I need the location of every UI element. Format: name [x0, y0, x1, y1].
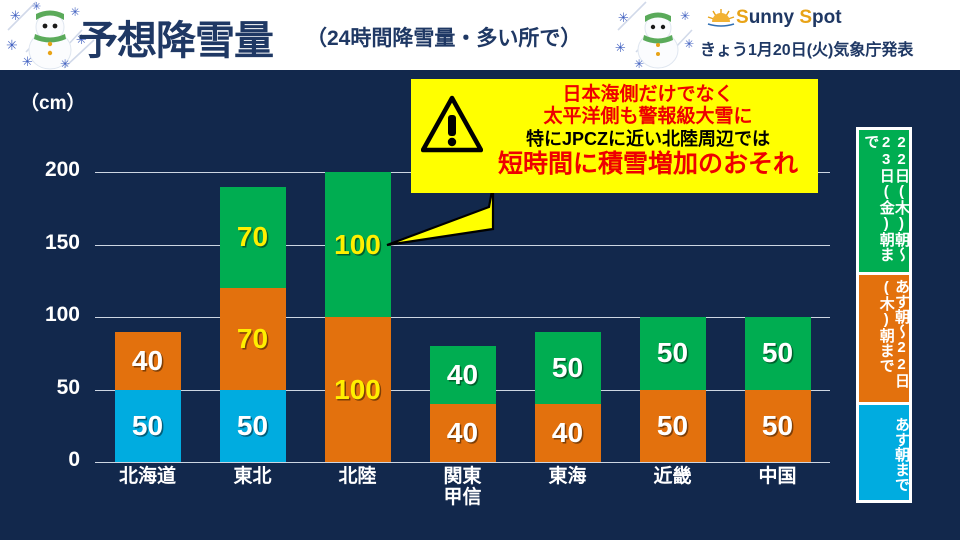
bar-value-label: 50 [132, 412, 163, 440]
bar-東北[interactable]: 507070 [220, 187, 286, 463]
brand-s1: S [736, 7, 749, 28]
bar-segment-orange: 70 [220, 288, 286, 390]
x-label-line: 中国 [723, 466, 833, 487]
legend-blue[interactable]: あす朝まで [859, 402, 909, 500]
bar-北海道[interactable]: 5040 [115, 332, 181, 463]
y-axis-tick-label: 200 [8, 158, 80, 182]
callout-line-3: 特にJPCZに近い北陸周辺では [483, 129, 813, 150]
svg-text:✳: ✳ [684, 37, 694, 51]
bar-中国[interactable]: 5050 [745, 317, 811, 462]
bar-value-label: 50 [237, 412, 268, 440]
svg-text:✳: ✳ [634, 57, 644, 70]
x-axis-label-北陸: 北陸 [303, 466, 413, 487]
warning-callout: 日本海側だけでなく 太平洋側も警報級大雪に 特にJPCZに近い北陸周辺では 短時… [411, 79, 818, 193]
bar-関東甲信[interactable]: 4040 [430, 346, 496, 462]
bar-value-label: 100 [334, 231, 381, 259]
x-axis-label-関東甲信: 関東甲信 [408, 466, 518, 509]
svg-text:✳: ✳ [615, 40, 626, 55]
bar-北陸[interactable]: 100100 [325, 172, 391, 462]
page-header: ✳✳ ✳✳ ✳✳ ✳ ✳✳ ✳✳ ✳ 予想降雪量 （2 [0, 0, 960, 70]
callout-tail [385, 185, 495, 247]
page-title: 予想降雪量 [78, 8, 273, 66]
x-label-line: 関東 [408, 466, 518, 487]
bar-segment-green: 50 [640, 317, 706, 390]
x-axis-label-東海: 東海 [513, 466, 623, 487]
publish-date: きょう1月20日(火)気象庁発表 [700, 36, 913, 60]
bar-value-label: 50 [657, 412, 688, 440]
x-label-line: 東北 [198, 466, 308, 487]
svg-text:✳: ✳ [6, 37, 18, 53]
bar-東海[interactable]: 4050 [535, 332, 601, 463]
callout-line-4: 短時間に積雪増加のおそれ [483, 150, 813, 180]
bar-segment-green: 70 [220, 187, 286, 289]
bar-value-label: 100 [334, 376, 381, 404]
x-label-line: 北陸 [303, 466, 413, 487]
bar-segment-orange: 100 [325, 317, 391, 462]
x-axis-label-東北: 東北 [198, 466, 308, 487]
x-label-line: 北海道 [93, 466, 203, 487]
callout-line-1: 日本海側だけでなく [483, 84, 813, 106]
bar-segment-green: 100 [325, 172, 391, 317]
legend-orange[interactable]: あす朝～22日(木)朝まで [859, 272, 909, 402]
svg-text:✳: ✳ [22, 54, 33, 69]
bar-近畿[interactable]: 5050 [640, 317, 706, 462]
x-axis-label-近畿: 近畿 [618, 466, 728, 487]
svg-text:✳: ✳ [680, 9, 690, 23]
bar-value-label: 40 [447, 361, 478, 389]
y-axis-tick-label: 50 [8, 376, 80, 400]
y-axis-tick-label: 0 [8, 448, 80, 472]
x-label-line: 近畿 [618, 466, 728, 487]
sun-icon [706, 8, 736, 28]
svg-text:✳: ✳ [60, 57, 70, 70]
svg-text:✳: ✳ [618, 10, 629, 25]
bar-segment-orange: 50 [640, 390, 706, 463]
bar-value-label: 50 [762, 339, 793, 367]
bar-segment-green: 50 [745, 317, 811, 390]
x-label-line: 東海 [513, 466, 623, 487]
gridline [95, 462, 830, 463]
bar-segment-orange: 40 [430, 404, 496, 462]
y-axis-unit-label: （cm） [20, 88, 85, 115]
bar-segment-orange: 50 [745, 390, 811, 463]
bar-segment-blue: 50 [220, 390, 286, 463]
brand-unny: unny [749, 7, 800, 28]
bar-value-label: 70 [237, 223, 268, 251]
bar-segment-green: 50 [535, 332, 601, 405]
x-label-line: 甲信 [408, 487, 518, 508]
bar-value-label: 50 [657, 339, 688, 367]
bar-segment-orange: 40 [535, 404, 601, 462]
bar-value-label: 40 [132, 347, 163, 375]
page-subtitle: （24時間降雪量・多い所で） [306, 22, 581, 52]
callout-line-2: 太平洋側も警報級大雪に [483, 106, 813, 128]
legend-green[interactable]: 22日(木)朝～23日(金)朝まで [859, 130, 909, 272]
bar-value-label: 50 [552, 354, 583, 382]
bar-value-label: 50 [762, 412, 793, 440]
svg-text:✳: ✳ [10, 8, 21, 23]
bar-segment-blue: 50 [115, 390, 181, 463]
bar-segment-green: 40 [430, 346, 496, 404]
bar-segment-orange: 40 [115, 332, 181, 390]
bar-value-label: 40 [447, 419, 478, 447]
bar-value-label: 40 [552, 419, 583, 447]
warning-triangle-icon [421, 95, 483, 153]
brand-logo: Sunny Spot [736, 7, 842, 29]
x-axis-label-中国: 中国 [723, 466, 833, 487]
bar-value-label: 70 [237, 325, 268, 353]
brand-s2: S [799, 7, 812, 28]
chart-legend: 22日(木)朝～23日(金)朝まであす朝～22日(木)朝まであす朝まで [856, 127, 912, 503]
y-axis-tick-label: 100 [8, 303, 80, 327]
y-axis-tick-label: 150 [8, 231, 80, 255]
svg-text:✳: ✳ [32, 1, 41, 13]
snowman-icon: ✳✳ ✳✳ ✳ [612, 0, 708, 70]
x-axis-label-北海道: 北海道 [93, 466, 203, 487]
brand-pot: pot [812, 7, 842, 28]
